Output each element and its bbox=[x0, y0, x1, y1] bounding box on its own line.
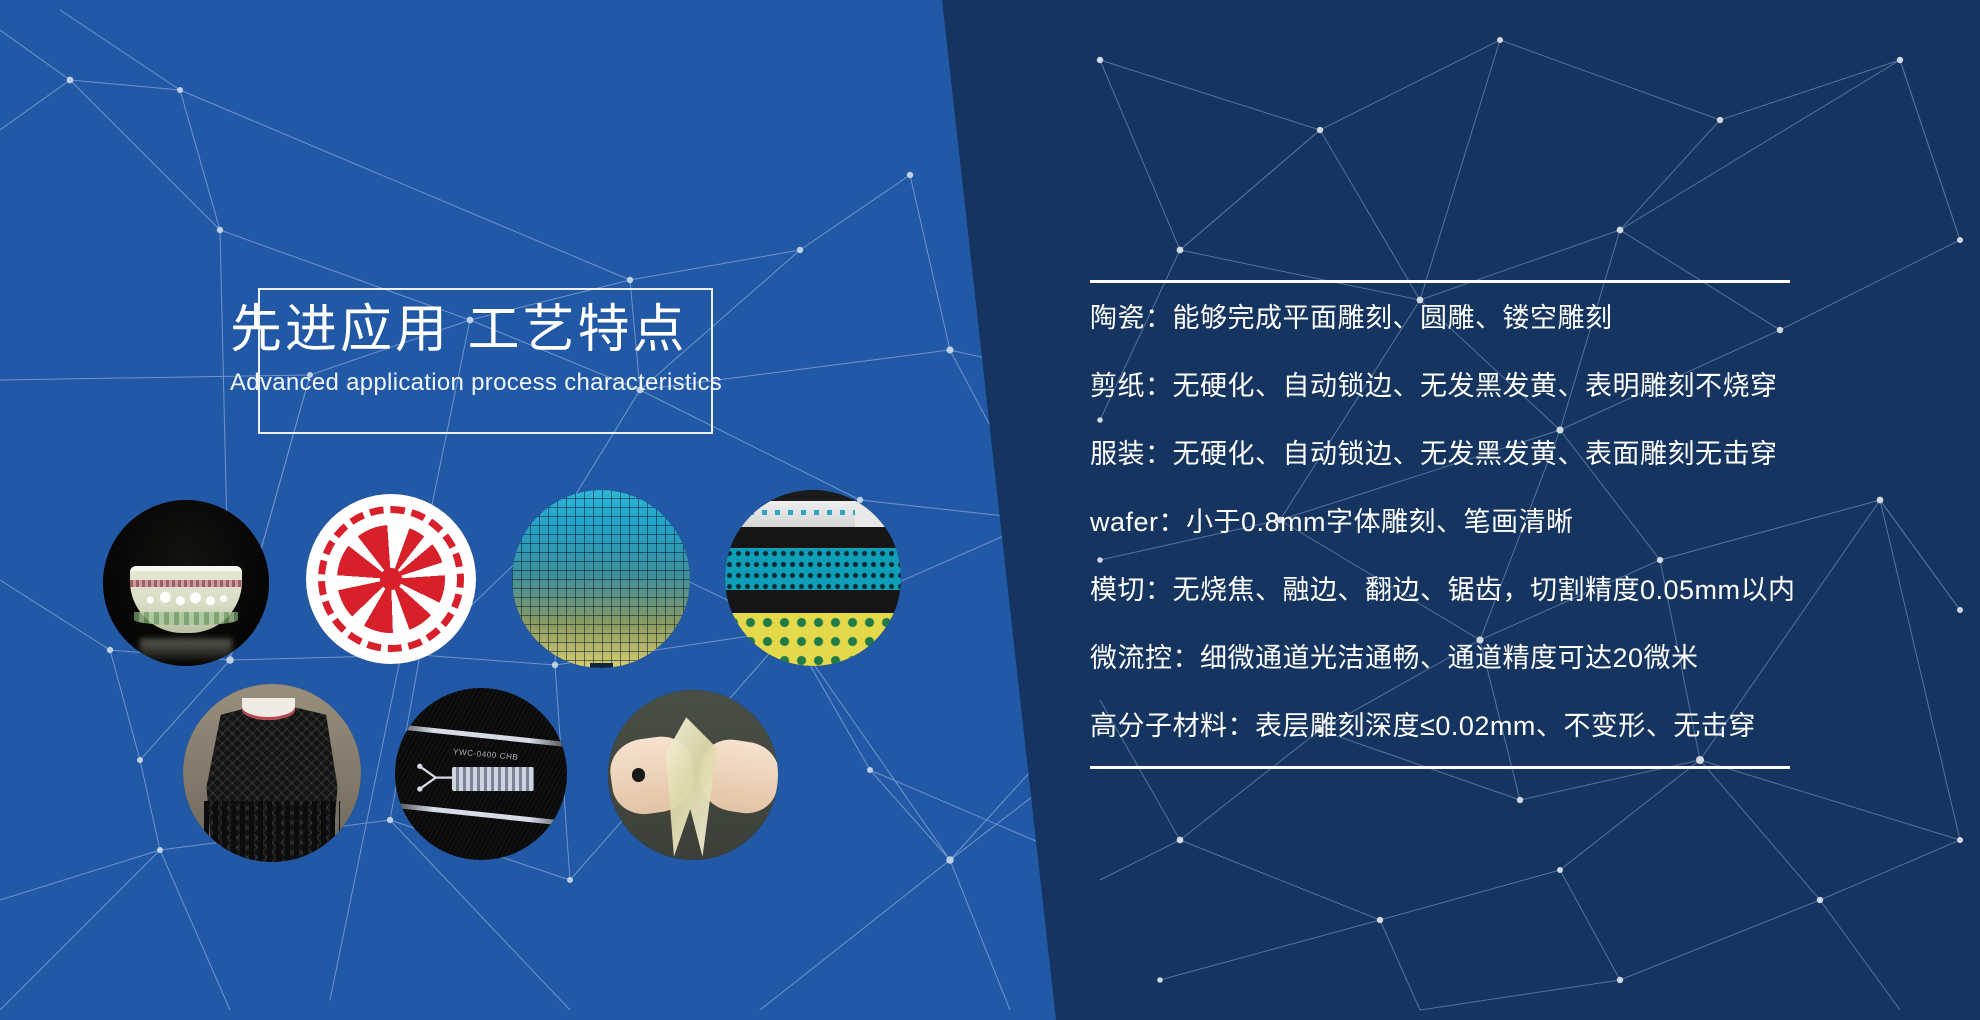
pcb-teal-band bbox=[725, 548, 901, 590]
pcb-dark-band-upper bbox=[725, 527, 901, 548]
spec-line-papercut: 剪纸：无硬化、自动锁边、无发黑发黄、表明雕刻不烧穿 bbox=[1090, 373, 1920, 400]
denim-laser-marking-thumbnail[interactable]: YWC-0400 CHB bbox=[395, 688, 567, 860]
papercut-center-motif bbox=[337, 525, 446, 634]
spec-panel: 陶瓷：能够完成平面雕刻、圆雕、镂空雕刻 剪纸：无硬化、自动锁边、无发黑发黄、表明… bbox=[1090, 280, 1920, 769]
black-garment-thumbnail[interactable] bbox=[183, 684, 361, 862]
spec-line-diecut: 模切：无烧焦、融边、翻边、锯齿，切割精度0.05mm以内 bbox=[1090, 577, 1920, 604]
ceramic-bowl-image bbox=[103, 500, 269, 666]
page-subtitle-english: Advanced application process characteris… bbox=[230, 367, 750, 398]
slide-canvas: 先进应用 工艺特点 Advanced application process c… bbox=[0, 0, 1980, 1020]
garment-laser-fringe bbox=[204, 801, 339, 862]
spec-line-polymer: 高分子材料：表层雕刻深度≤0.02mm、不变形、无击穿 bbox=[1090, 713, 1920, 740]
wafer-flat-notch bbox=[590, 663, 613, 668]
film-dark-spot bbox=[632, 768, 646, 782]
pcb-strip-image bbox=[725, 490, 901, 666]
denim-fork-mark-icon bbox=[416, 757, 454, 798]
silicon-wafer-image bbox=[512, 490, 690, 668]
page-title-chinese: 先进应用 工艺特点 bbox=[230, 300, 750, 361]
spec-divider-top bbox=[1090, 280, 1790, 283]
bowl-lower-band bbox=[134, 612, 238, 626]
bowl-upper-band bbox=[130, 580, 243, 587]
spec-line-microfluidics: 微流控：细微通道光洁通畅、通道精度可达20微米 bbox=[1090, 645, 1920, 672]
bowl-shape bbox=[130, 566, 243, 632]
red-papercut-thumbnail[interactable] bbox=[306, 494, 476, 664]
bowl-engraved-glyphs bbox=[139, 591, 234, 609]
papercut-image bbox=[306, 494, 476, 664]
title-block: 先进应用 工艺特点 Advanced application process c… bbox=[230, 300, 750, 399]
spec-list: 陶瓷：能够完成平面雕刻、圆雕、镂空雕刻 剪纸：无硬化、自动锁边、无发黑发黄、表明… bbox=[1090, 305, 1920, 740]
pcb-dark-band-lower bbox=[725, 590, 901, 613]
silicon-wafer-thumbnail[interactable] bbox=[512, 490, 690, 668]
wafer-die-grid bbox=[512, 490, 690, 668]
pcb-die-strip-thumbnail[interactable] bbox=[725, 490, 901, 666]
gloved-hands-film-thumbnail[interactable] bbox=[608, 690, 778, 860]
pcb-chip-block bbox=[855, 502, 890, 527]
denim-cut-line-top bbox=[395, 723, 567, 748]
pcb-yellow-band bbox=[725, 613, 901, 666]
denim-cut-line-bottom bbox=[395, 802, 567, 827]
garment-collar bbox=[242, 698, 295, 719]
denim-label-text: YWC-0400 CHB bbox=[453, 747, 519, 762]
spec-line-ceramic: 陶瓷：能够完成平面雕刻、圆雕、镂空雕刻 bbox=[1090, 305, 1920, 332]
bowl-reflection bbox=[140, 639, 233, 662]
spec-divider-bottom bbox=[1090, 766, 1790, 769]
ceramic-bowl-thumbnail[interactable] bbox=[103, 500, 269, 666]
spec-line-wafer: wafer：小于0.8mm字体雕刻、笔画清晰 bbox=[1090, 509, 1920, 536]
polymer-film-image bbox=[608, 690, 778, 860]
denim-serration-bar bbox=[452, 767, 535, 791]
garment-image bbox=[183, 684, 361, 862]
spec-line-apparel: 服装：无硬化、自动锁边、无发黑发黄、表面雕刻无击穿 bbox=[1090, 441, 1920, 468]
denim-image: YWC-0400 CHB bbox=[395, 688, 567, 860]
